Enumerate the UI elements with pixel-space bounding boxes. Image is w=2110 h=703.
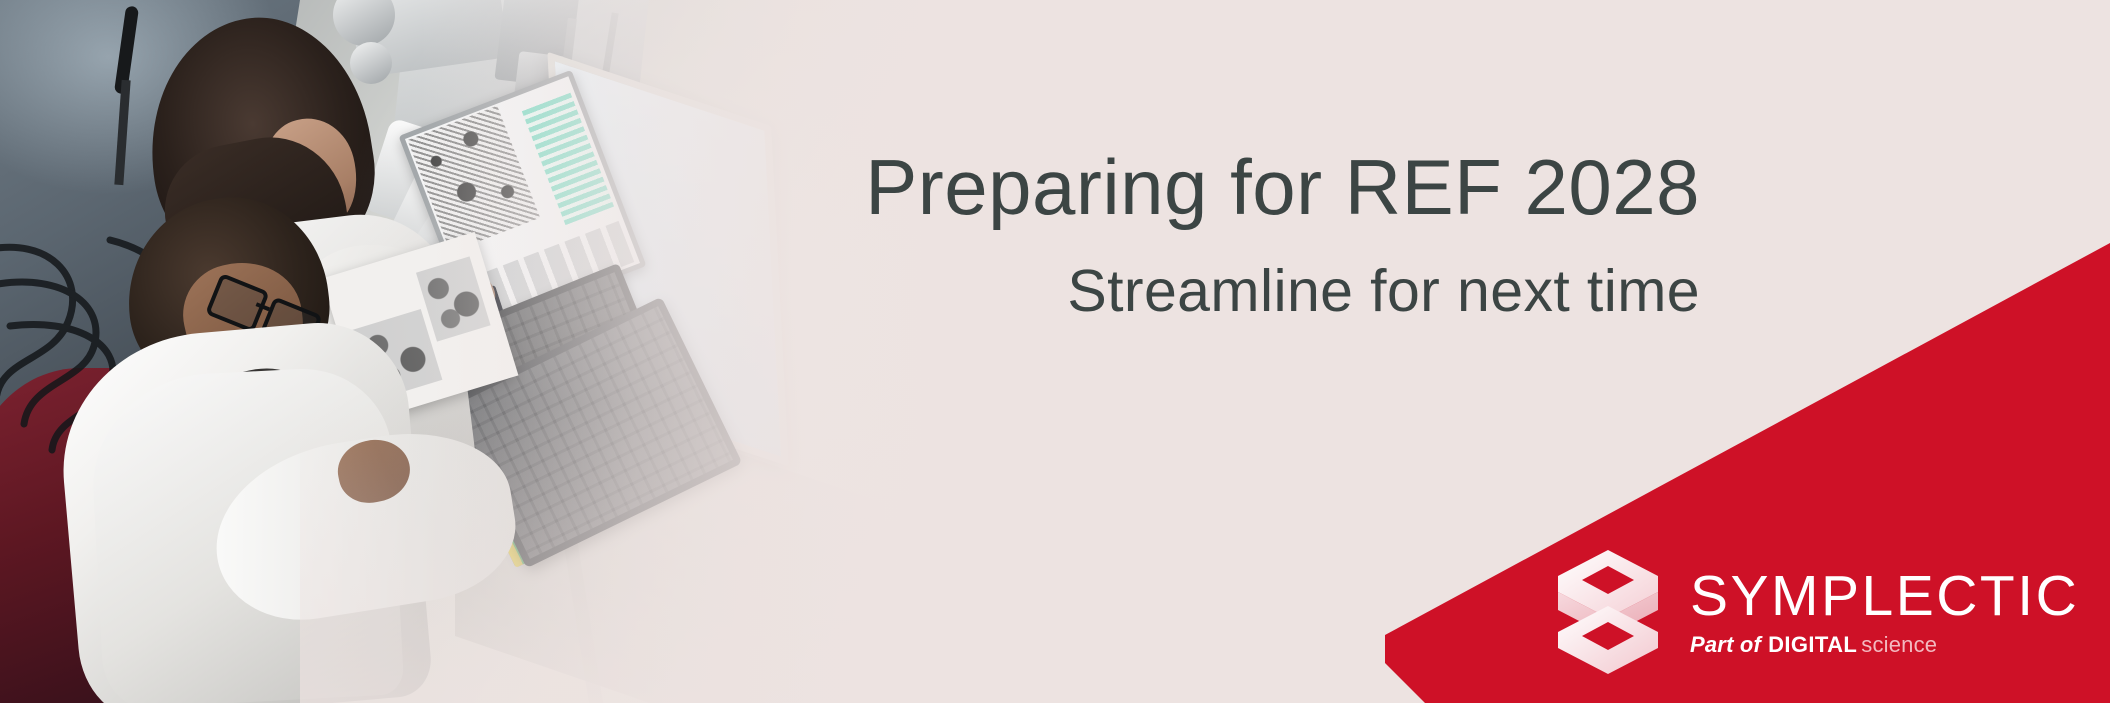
photo-right-fade bbox=[420, 0, 980, 703]
page-subtitle: Streamline for next time bbox=[560, 262, 1700, 321]
symplectic-logo[interactable]: SYMPLECTIC Part of DIGITAL science bbox=[1556, 548, 2079, 676]
promo-banner: Preparing for REF 2028 Streamline for ne… bbox=[0, 0, 2110, 703]
hero-photo-scene bbox=[0, 0, 980, 703]
banner-copy: Preparing for REF 2028 Streamline for ne… bbox=[560, 148, 1700, 321]
logo-tagline: Part of DIGITAL science bbox=[1690, 634, 2079, 656]
page-title: Preparing for REF 2028 bbox=[560, 148, 1700, 226]
tagline-digital: DIGITAL bbox=[1768, 634, 1857, 656]
logo-wordmark: SYMPLECTIC bbox=[1690, 568, 2079, 625]
hero-photo bbox=[0, 0, 980, 703]
tagline-part-of: Part of bbox=[1690, 634, 1761, 656]
symplectic-stacked-s-mark-icon bbox=[1556, 548, 1660, 676]
stacked-s-icon bbox=[1556, 548, 1660, 676]
tagline-science: science bbox=[1861, 634, 1937, 656]
logo-wordmark-block: SYMPLECTIC Part of DIGITAL science bbox=[1690, 568, 2079, 656]
